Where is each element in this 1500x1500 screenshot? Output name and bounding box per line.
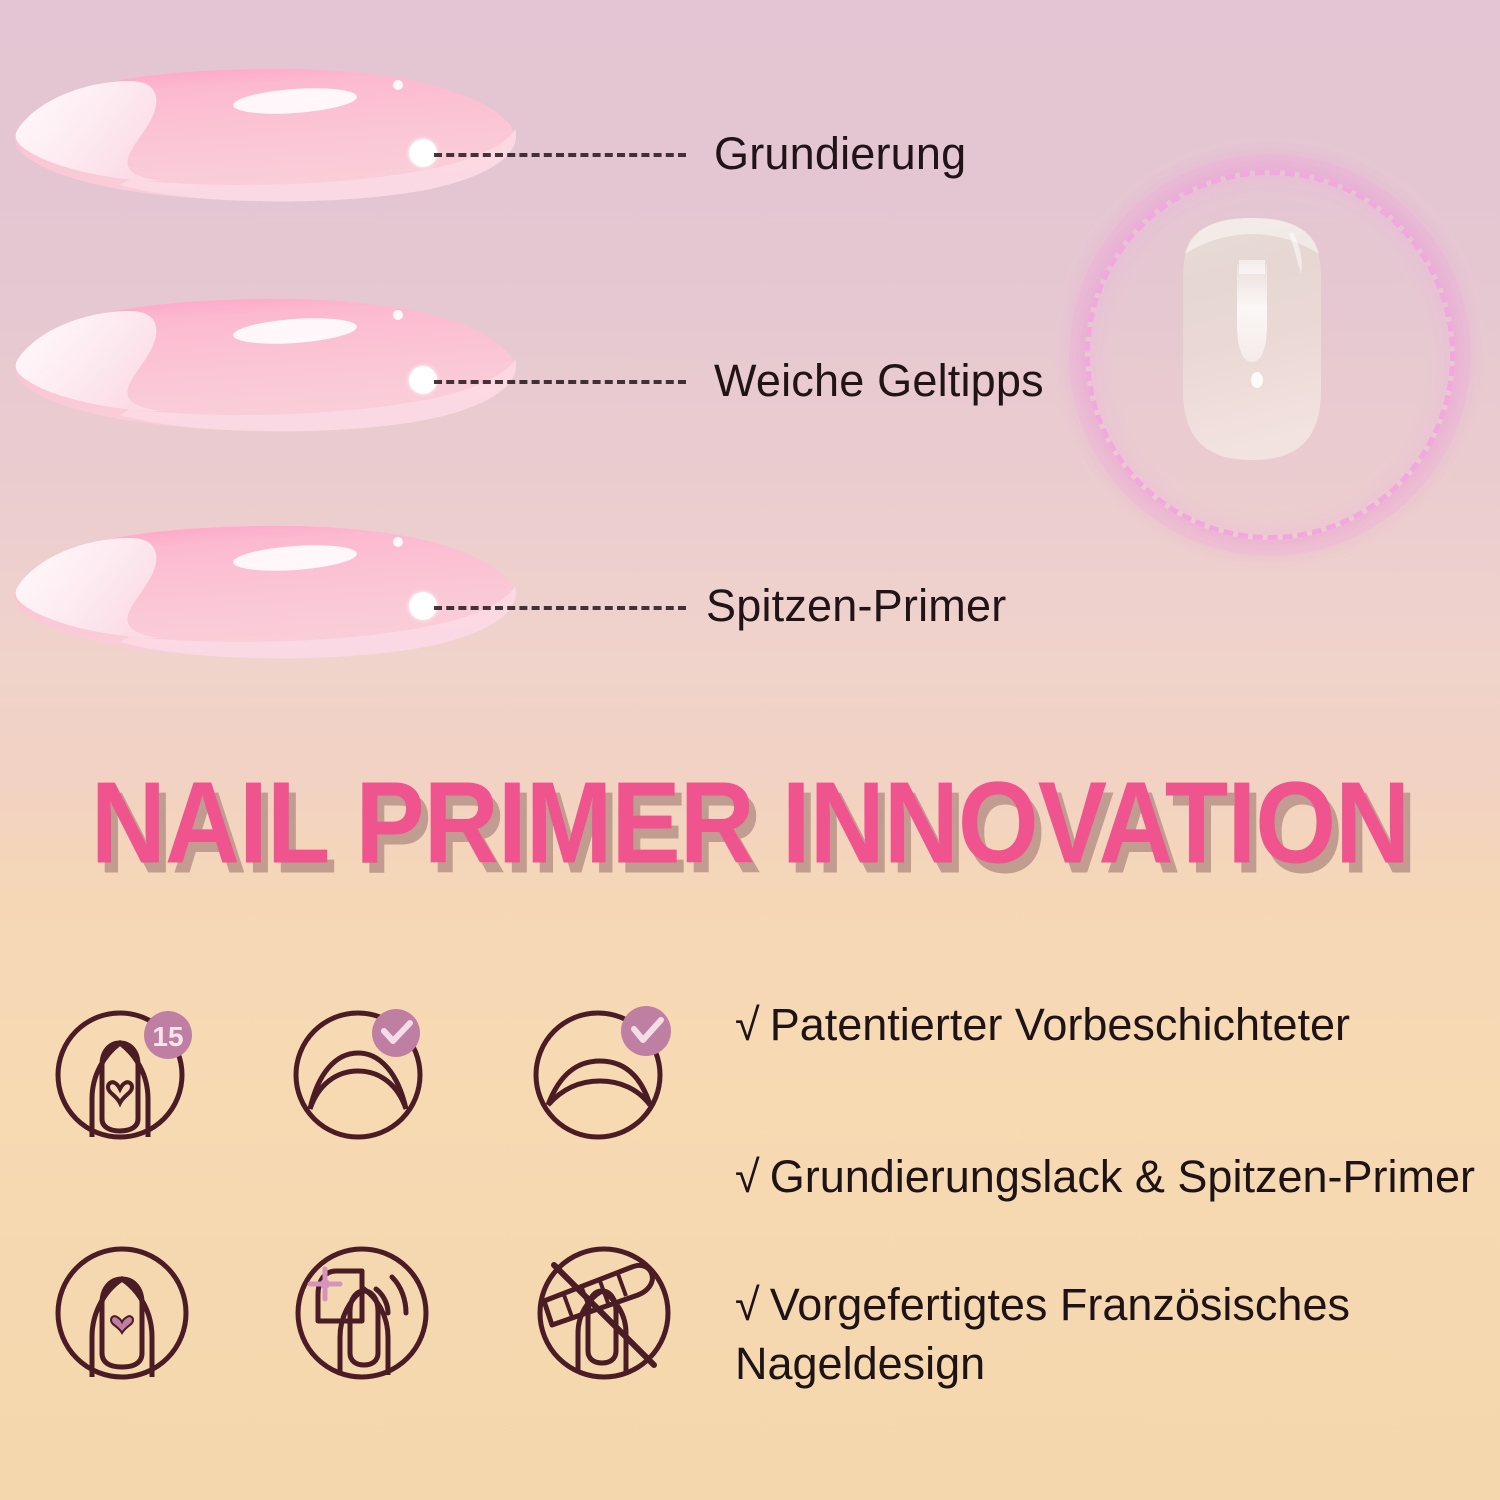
nail-tip-illustration-2 bbox=[10, 285, 530, 445]
nail-heart-15-minutes-icon: 15 bbox=[44, 993, 206, 1155]
check-mark-icon-2: √ bbox=[735, 1151, 760, 1202]
callout-label-3: Spitzen-Primer bbox=[706, 580, 1006, 632]
nail-polish-shine-icon bbox=[284, 1233, 446, 1395]
feature-bullet-text-1: Patentierter Vorbeschichteter bbox=[770, 999, 1350, 1050]
feature-bullet-3: √Vorgefertigtes Französisches Nageldesig… bbox=[735, 1275, 1375, 1394]
infographic-canvas: Grundierung Weiche Geltipps Spitzen-Prim… bbox=[0, 0, 1500, 1500]
french-smile-line-wide-icon bbox=[524, 993, 686, 1155]
no-filing-icon bbox=[524, 1233, 686, 1395]
anchor-dot-1 bbox=[409, 139, 437, 167]
feature-bullet-text-2: Grundierungslack & Spitzen-Primer bbox=[770, 1151, 1475, 1202]
connector-line-1 bbox=[434, 153, 686, 157]
page-title: NAIL PRIMER INNOVATION bbox=[0, 757, 1500, 890]
callout-label-2: Weiche Geltipps bbox=[714, 355, 1044, 407]
nail-tip-illustration-1 bbox=[10, 55, 530, 215]
check-mark-icon-3: √ bbox=[735, 1279, 760, 1330]
french-smile-line-curve-icon bbox=[284, 993, 446, 1155]
icon-badge-15: 15 bbox=[152, 1021, 183, 1052]
nail-heart-icon bbox=[44, 1233, 206, 1395]
nail-tip-closeup bbox=[1177, 214, 1327, 464]
check-mark-icon-1: √ bbox=[735, 999, 760, 1050]
feature-bullet-text-3: Vorgefertigtes Französisches Nageldesign bbox=[735, 1279, 1350, 1389]
anchor-dot-2 bbox=[409, 366, 437, 394]
product-circle bbox=[1085, 170, 1455, 540]
connector-line-3 bbox=[434, 606, 686, 610]
nail-tip-illustration-3 bbox=[10, 512, 530, 672]
connector-line-2 bbox=[434, 380, 686, 384]
feature-bullet-2: √Grundierungslack & Spitzen-Primer bbox=[735, 1147, 1475, 1206]
anchor-dot-3 bbox=[409, 592, 437, 620]
feature-bullet-1: √Patentierter Vorbeschichteter bbox=[735, 995, 1475, 1054]
callout-label-1: Grundierung bbox=[714, 128, 966, 180]
